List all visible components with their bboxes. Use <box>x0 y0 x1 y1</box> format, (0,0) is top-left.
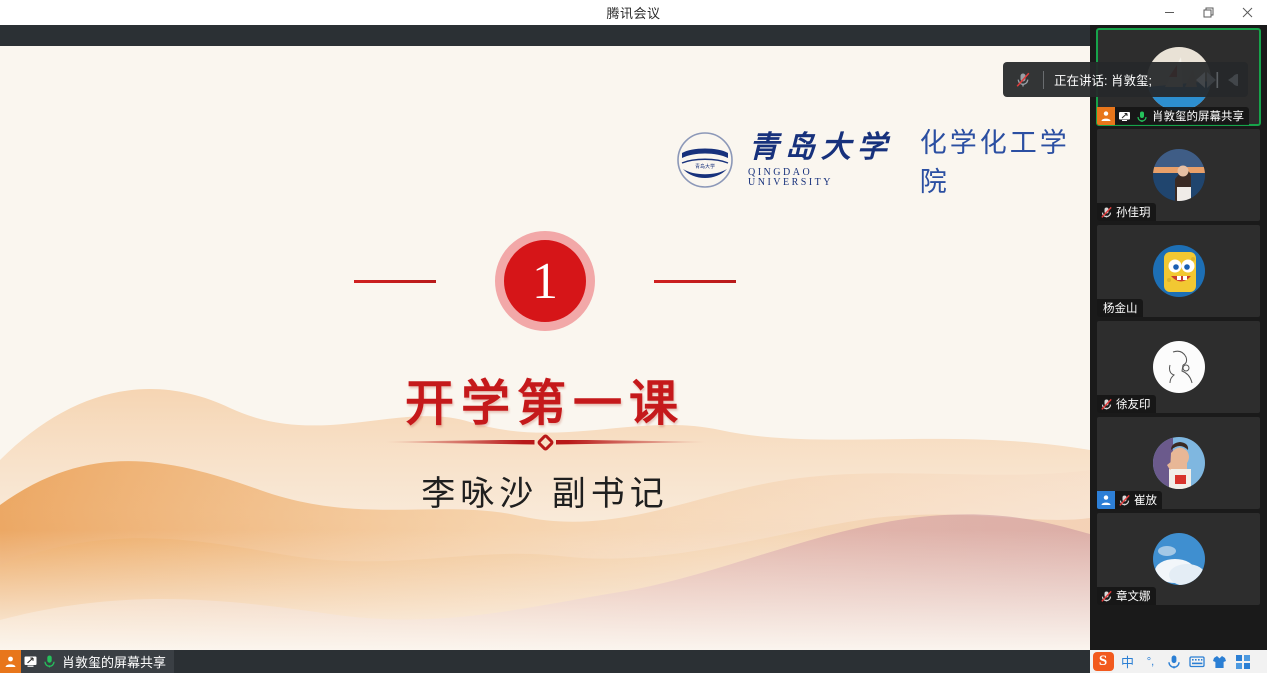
tencent-meeting-window: 腾讯会议 <box>0 0 1267 673</box>
slide-header: 青岛大学 青岛大学 QINGDAO UNIVERSITY 化学化工学院 <box>676 121 1090 199</box>
mic-muted-icon <box>1097 203 1115 221</box>
participant-tile[interactable]: 杨金山 <box>1097 225 1260 317</box>
sogou-ime-toolbar[interactable]: S 中 °, <box>1090 650 1267 673</box>
mic-muted-icon <box>1097 395 1115 413</box>
rule-left <box>354 280 436 283</box>
taskbar-screen-share-item[interactable]: 肖敦玺的屏幕共享 <box>0 650 174 673</box>
tile-badges: 章文娜 <box>1097 587 1156 605</box>
voice-input-icon[interactable] <box>1162 650 1185 673</box>
minimize-button[interactable] <box>1150 0 1189 25</box>
mic-muted-icon <box>1097 587 1115 605</box>
mic-muted-icon[interactable] <box>1003 71 1043 89</box>
avatar <box>1153 533 1205 585</box>
section-number-row: 1 <box>0 231 1090 331</box>
soft-keyboard-icon[interactable] <box>1185 650 1208 673</box>
participant-name: 崔放 <box>1133 492 1162 508</box>
university-name-block: 青岛大学 QINGDAO UNIVERSITY <box>748 133 894 188</box>
participant-name: 徐友印 <box>1115 396 1156 412</box>
language-mode-button[interactable]: 中 <box>1116 650 1139 673</box>
shared-screen-stage[interactable]: 青岛大学 青岛大学 QINGDAO UNIVERSITY 化学化工学院 1 开学… <box>0 25 1090 650</box>
divider-bar-right <box>556 440 706 445</box>
tile-badges: 徐友印 <box>1097 395 1156 413</box>
restore-button[interactable] <box>1189 0 1228 25</box>
avatar <box>1153 245 1205 297</box>
taskbar-item-label: 肖敦玺的屏幕共享 <box>59 652 174 671</box>
rule-right <box>654 280 736 283</box>
taskbar: 肖敦玺的屏幕共享 <box>0 650 1090 673</box>
avatar <box>1153 149 1205 201</box>
participant-tile[interactable]: 章文娜 <box>1097 513 1260 605</box>
participant-name: 孙佳玥 <box>1115 204 1156 220</box>
screen-top-strip <box>0 25 1090 46</box>
sogou-logo-icon[interactable]: S <box>1090 650 1116 673</box>
presentation-slide: 青岛大学 青岛大学 QINGDAO UNIVERSITY 化学化工学院 1 开学… <box>0 46 1090 650</box>
bottom-haze <box>0 530 1090 650</box>
host-icon <box>0 650 21 673</box>
mic-muted-icon <box>1115 491 1133 509</box>
participant-tile[interactable]: 徐友印 <box>1097 321 1260 413</box>
window-controls <box>1150 0 1267 25</box>
window-title: 腾讯会议 <box>606 3 660 22</box>
sogou-logo-text: S <box>1093 652 1114 671</box>
section-number-badge: 1 <box>495 231 595 331</box>
participant-name: 杨金山 <box>1097 300 1143 316</box>
toolbox-grid-icon[interactable] <box>1231 650 1254 673</box>
avatar <box>1153 437 1205 489</box>
qingdao-university-logo-icon: 青岛大学 <box>676 131 734 189</box>
avatar <box>1153 341 1205 393</box>
participant-tile[interactable]: 孙佳玥 <box>1097 129 1260 221</box>
close-button[interactable] <box>1228 0 1267 25</box>
title-divider <box>0 431 1090 453</box>
tile-badges: 孙佳玥 <box>1097 203 1156 221</box>
presenter-name: 李咏沙 副书记 <box>0 466 1090 515</box>
speaking-status-text: 正在讲话: 肖敦玺; <box>1044 70 1192 89</box>
slide-title: 开学第一课 <box>0 364 1090 435</box>
title-bar: 腾讯会议 <box>0 0 1267 25</box>
person-icon <box>1097 491 1115 509</box>
participant-tile[interactable]: 崔放 <box>1097 417 1260 509</box>
participant-name: 肖敦玺的屏幕共享 <box>1151 108 1249 124</box>
tile-badges: 崔放 <box>1097 491 1162 509</box>
mic-on-icon <box>40 652 59 671</box>
svg-text:青岛大学: 青岛大学 <box>695 163 715 170</box>
participant-rail[interactable]: 肖敦玺的屏幕共享 孙佳玥 <box>1090 25 1267 650</box>
punctuation-mode-button[interactable]: °, <box>1139 650 1162 673</box>
university-name-cn: 青岛大学 <box>749 133 893 163</box>
screen-share-icon <box>21 652 40 671</box>
screen-share-icon <box>1115 107 1133 125</box>
speaking-toast[interactable]: 正在讲话: 肖敦玺; <box>1003 62 1248 97</box>
shirt-icon[interactable] <box>1208 650 1231 673</box>
college-name: 化学化工学院 <box>920 121 1090 199</box>
tile-badges: 杨金山 <box>1097 299 1143 317</box>
host-icon <box>1097 107 1115 125</box>
university-name-en: QINGDAO UNIVERSITY <box>748 168 894 188</box>
mic-on-icon <box>1133 107 1151 125</box>
participant-name: 章文娜 <box>1115 588 1156 604</box>
tile-badges: 肖敦玺的屏幕共享 <box>1097 107 1249 125</box>
divider-bar-left <box>385 440 535 445</box>
collapse-arrows-icon[interactable] <box>1192 69 1248 91</box>
divider-diamond-icon <box>536 433 554 451</box>
